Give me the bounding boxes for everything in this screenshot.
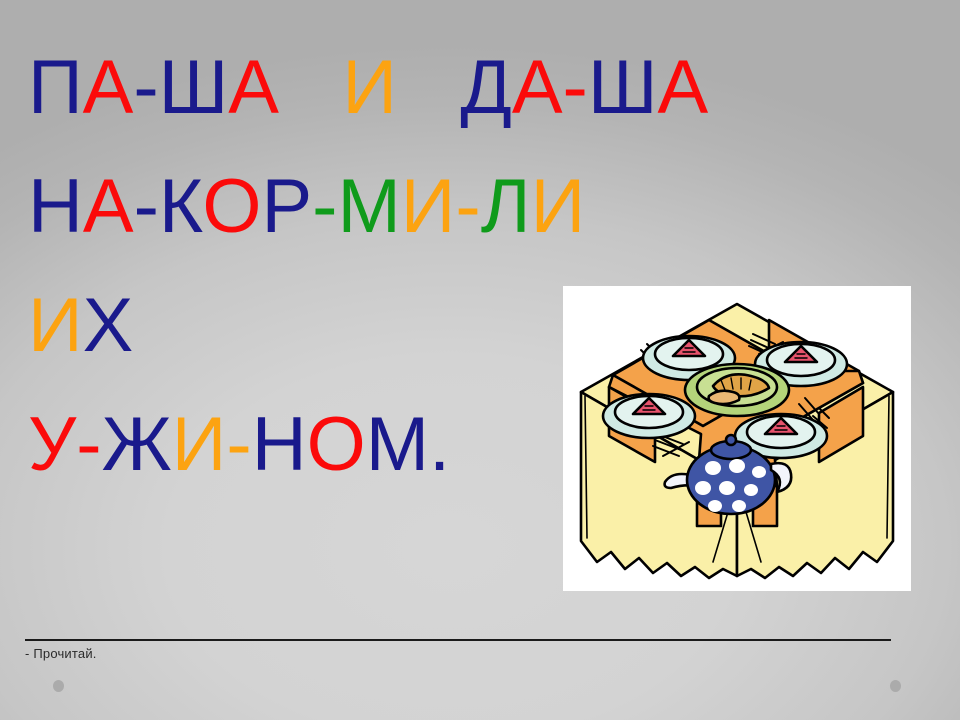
text-glyph: И	[342, 45, 397, 130]
text-glyph: Р	[261, 164, 312, 249]
text-glyph: Д	[460, 45, 511, 130]
text-glyph: М	[366, 402, 429, 487]
slide-canvas: ПА-ША И ДА-ША НА-КОР-МИ-ЛИ ИХ У-ЖИ-НОМ.	[0, 0, 960, 720]
text-glyph: И	[401, 164, 456, 249]
text-glyph: -	[563, 45, 588, 130]
text-line-4: У-ЖИ-НОМ.	[28, 385, 588, 504]
text-glyph: П	[28, 45, 83, 130]
text-glyph: К	[159, 164, 202, 249]
text-glyph	[397, 45, 460, 130]
text-glyph: -	[76, 402, 101, 487]
text-glyph: -	[455, 164, 480, 249]
text-glyph: И	[172, 402, 227, 487]
plate-front-left	[603, 394, 695, 438]
text-glyph: О	[202, 164, 261, 249]
bread-roll	[709, 391, 740, 404]
text-glyph: Л	[481, 164, 531, 249]
text-glyph: -	[226, 402, 251, 487]
decorative-dot-right	[890, 680, 901, 692]
text-glyph: А	[228, 45, 279, 130]
text-glyph: -	[134, 164, 159, 249]
text-glyph: А	[512, 45, 563, 130]
text-glyph: Х	[83, 283, 134, 368]
text-glyph	[279, 45, 342, 130]
text-glyph: И	[531, 164, 586, 249]
text-glyph: А	[83, 164, 134, 249]
text-line-3: ИХ	[28, 266, 588, 385]
text-glyph: И	[28, 283, 83, 368]
text-glyph: Н	[252, 402, 307, 487]
text-glyph: О	[307, 402, 366, 487]
text-glyph: .	[429, 402, 450, 487]
bread-platter	[685, 364, 789, 416]
text-glyph: М	[337, 164, 400, 249]
text-line-2: НА-КОР-МИ-ЛИ	[28, 147, 588, 266]
text-glyph: Ш	[588, 45, 658, 130]
teapot-knob	[726, 435, 736, 445]
text-glyph: А	[83, 45, 134, 130]
text-line-1: ПА-ША И ДА-ША	[28, 28, 588, 147]
text-glyph: -	[133, 45, 158, 130]
decorative-dot-left	[53, 680, 64, 692]
footer-divider	[25, 639, 891, 641]
text-glyph: Н	[28, 164, 83, 249]
text-glyph: -	[312, 164, 337, 249]
reading-text-block: ПА-ША И ДА-ША НА-КОР-МИ-ЛИ ИХ У-ЖИ-НОМ.	[28, 28, 588, 504]
dinner-table-illustration	[563, 286, 911, 591]
footer-note: - Прочитай.	[25, 646, 97, 661]
text-glyph: А	[658, 45, 709, 130]
text-glyph: Ш	[159, 45, 229, 130]
text-glyph: У	[28, 402, 76, 487]
text-glyph: Ж	[102, 402, 172, 487]
